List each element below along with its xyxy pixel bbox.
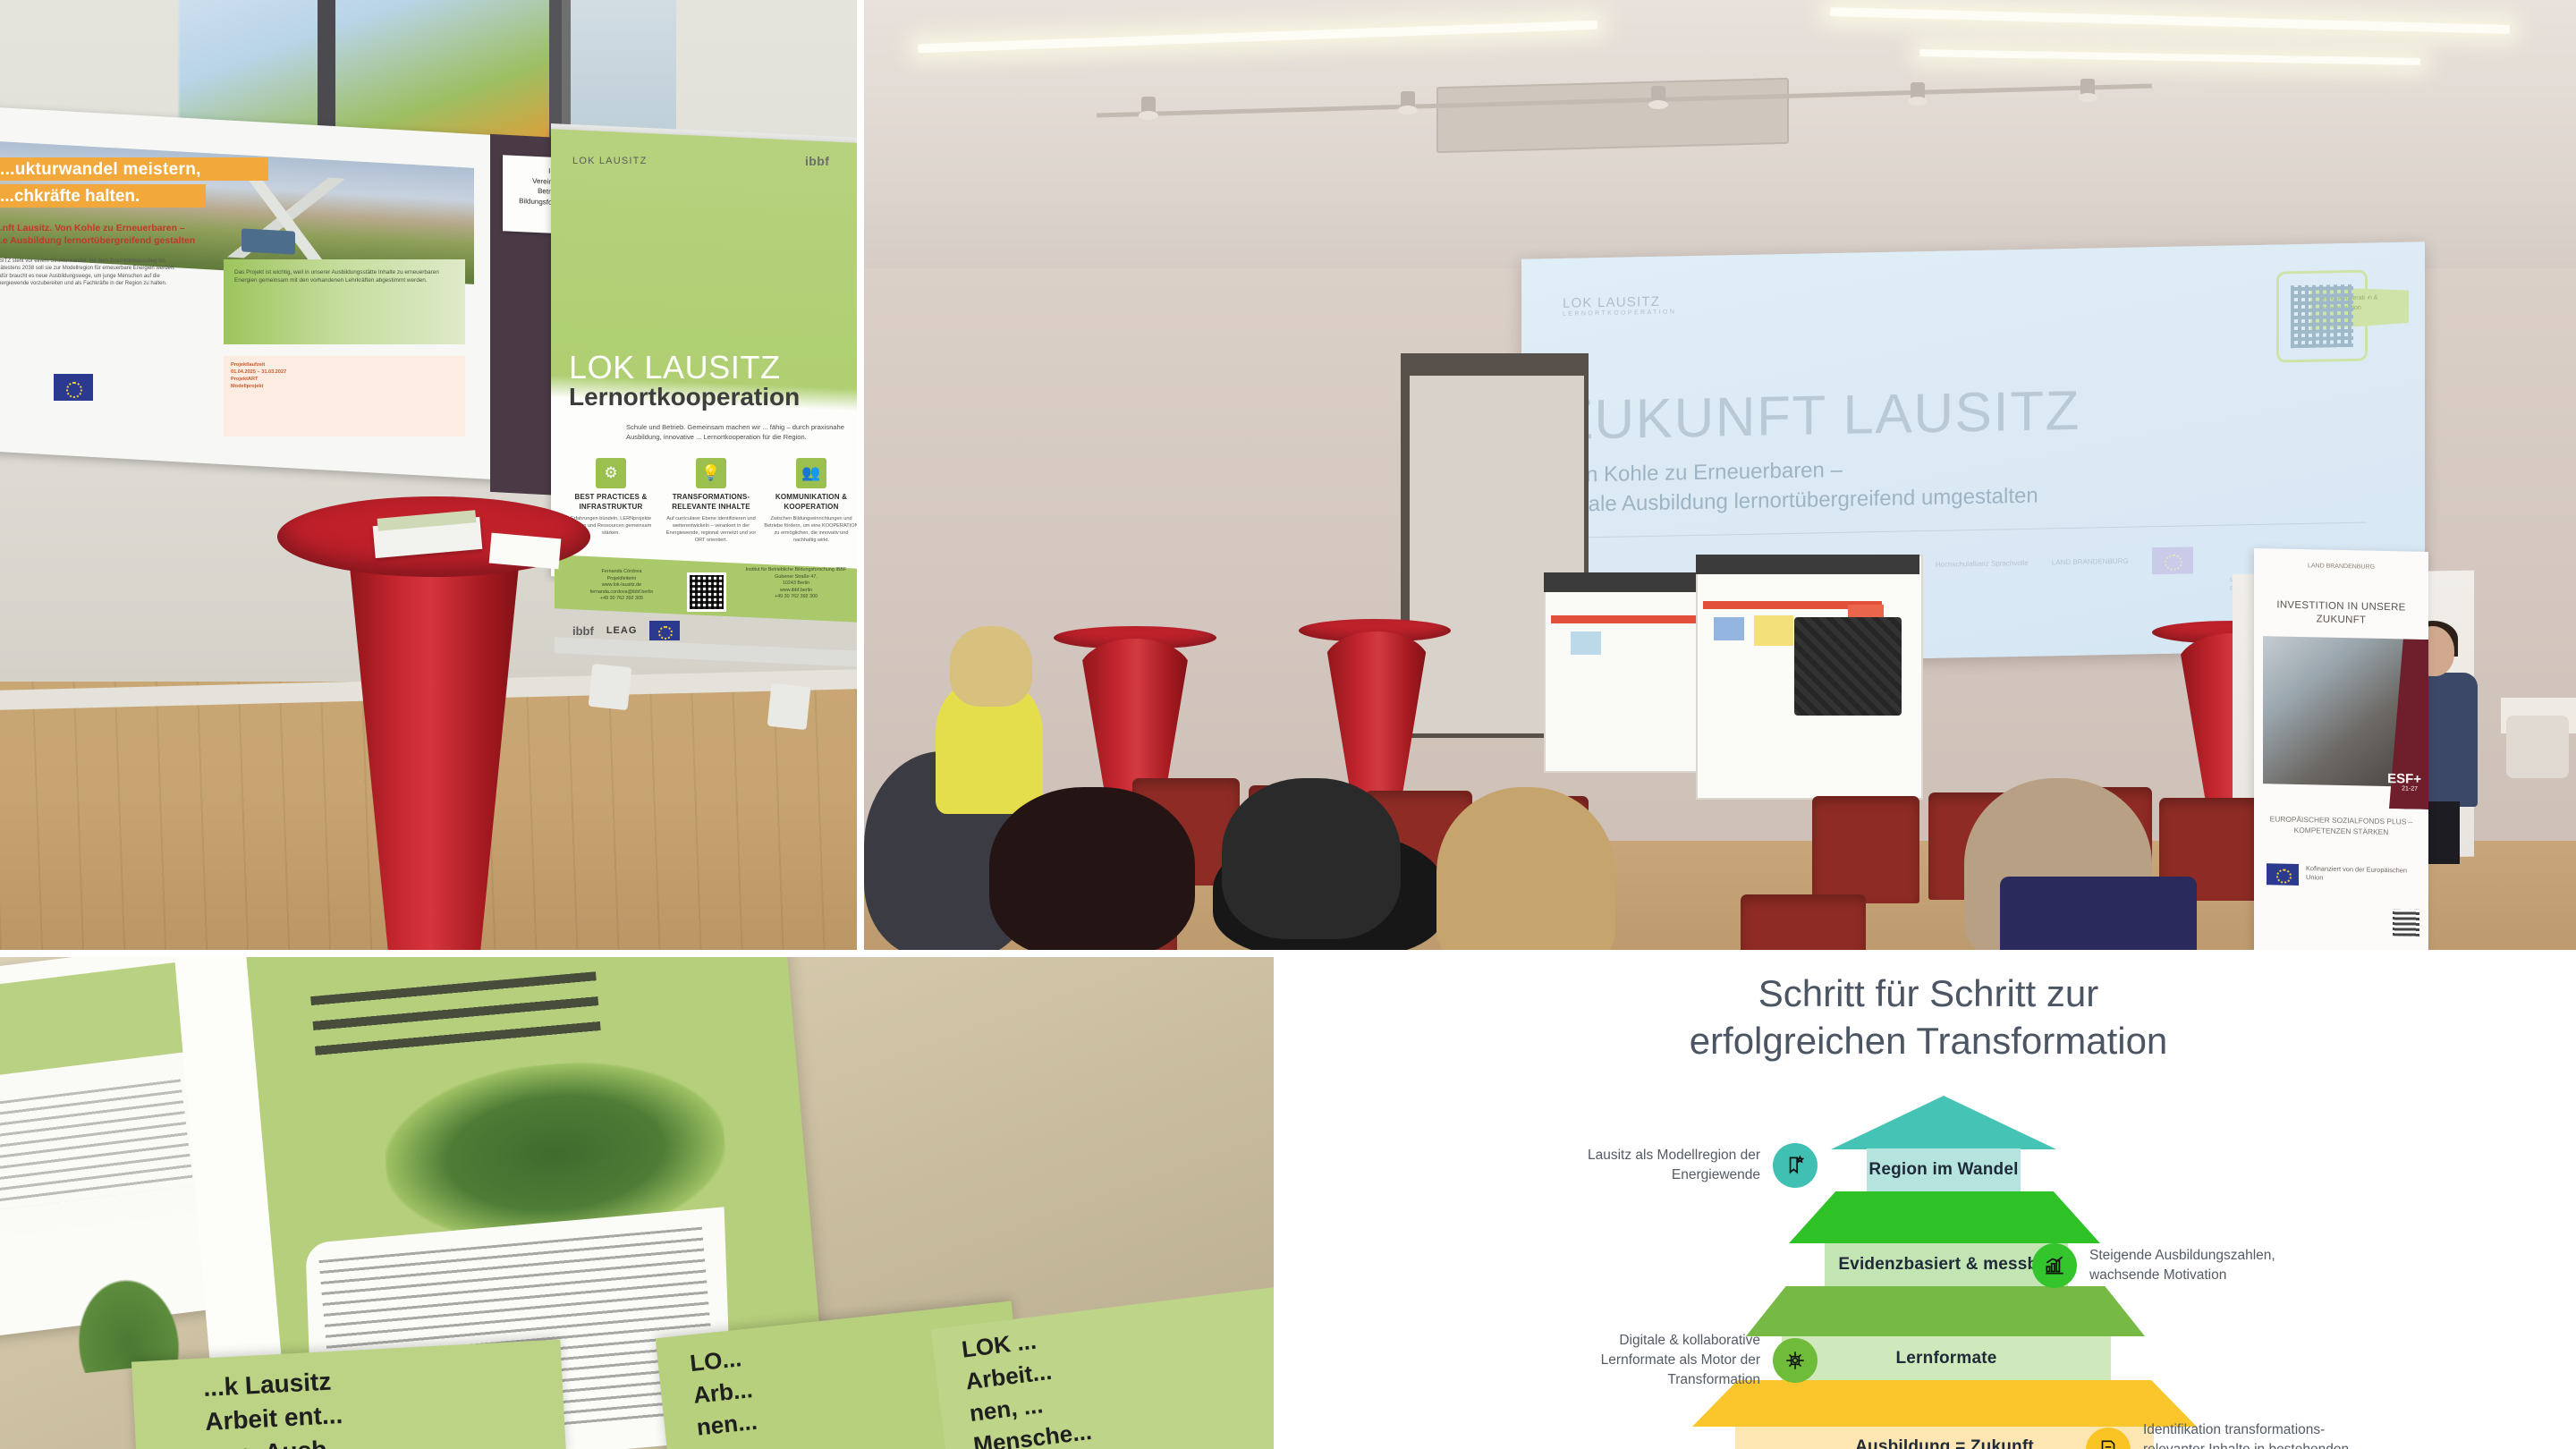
note-1-line-2: Energiewende bbox=[1588, 1165, 1760, 1185]
table-skirt bbox=[347, 539, 521, 950]
pyramid-note-3-text: Digitale & kollaborative Lernformate als… bbox=[1601, 1331, 1760, 1390]
eu-flag-icon bbox=[649, 621, 680, 640]
column-body: Auf curricularer Ebene identifizieren un… bbox=[664, 515, 758, 544]
esf-eu-label: Kofinanziert von der Europäischen Union bbox=[2306, 864, 2413, 885]
eu-flag-icon bbox=[2152, 547, 2193, 574]
note-3-line-2: Lernformate als Motor der bbox=[1601, 1351, 1760, 1370]
slide-title: ZUKUNFT LAUSITZ bbox=[1559, 379, 2080, 453]
rollup-logo-row: ibbf LEAG bbox=[572, 621, 850, 640]
poster-info-text: Projektlaufzeit 01.04.2025 – 31.03.2027 … bbox=[231, 361, 338, 390]
column-heading: KOMMUNIKATION & KOOPERATION bbox=[764, 493, 857, 512]
rollup-logo: LOK LAUSITZ bbox=[572, 156, 648, 166]
rollup-subtitle: Lernortkooperation bbox=[569, 383, 857, 411]
spotlight-icon bbox=[2080, 79, 2095, 100]
note-3-line-1: Digitale & kollaborative bbox=[1601, 1331, 1760, 1351]
spotlight-icon bbox=[1651, 86, 1665, 107]
pyramid-level-4-label: Ausbildung = Zukunft bbox=[1855, 1437, 2034, 1449]
slide-logo-sub: LERNORTKOOPERATION bbox=[1563, 309, 1676, 317]
transformation-pyramid-diagram: Schritt für Schritt zur erfolgreichen Tr… bbox=[1281, 957, 2576, 1449]
pyramid-note-2: Steigende Ausbildungszahlen, wachsende M… bbox=[2032, 1243, 2444, 1288]
sticky-note bbox=[1754, 615, 1793, 646]
ceiling-vent bbox=[1436, 78, 1789, 153]
qr-code-icon bbox=[687, 572, 726, 612]
exhibition-stand-photo: ...ukturwandel meistern, ...chkräfte hal… bbox=[0, 0, 857, 950]
spotlight-icon bbox=[1141, 97, 1156, 118]
rollup-foot bbox=[589, 664, 632, 710]
network-icon: ⚙ bbox=[596, 458, 626, 488]
poster-quote-text: Das Projekt ist wichtig, weil in unserer… bbox=[234, 268, 458, 284]
audience-member bbox=[2000, 877, 2197, 950]
diagram-title-line-1: Schritt für Schritt zur bbox=[1281, 970, 2576, 1017]
paper-sheet bbox=[489, 533, 562, 570]
photo-collage: ...ukturwandel meistern, ...chkräfte hal… bbox=[0, 0, 2576, 1449]
auditorium-seat bbox=[1812, 796, 1919, 903]
note-3-line-3: Transformation bbox=[1601, 1370, 1760, 1390]
bar-chart-growth-icon bbox=[2032, 1243, 2077, 1288]
pyramid-level-3: Lernformate bbox=[1782, 1336, 2111, 1380]
qr-code-icon bbox=[2276, 270, 2368, 363]
slide-logo-text: LOK LAUSITZ bbox=[1563, 294, 1660, 311]
slide-subtitle: Von Kohle zu Erneuerbaren – Duale Ausbil… bbox=[1561, 452, 2038, 520]
note-4-line-2: relevanter Inhalte in bestehenden bbox=[2143, 1440, 2349, 1449]
note-1-line-1: Lausitz als Modellregion der bbox=[1588, 1146, 1760, 1165]
note-2-line-1: Steigende Ausbildungszahlen, bbox=[2089, 1246, 2275, 1266]
pyramid-level-1: Region im Wandel bbox=[1867, 1148, 2021, 1191]
rollup-description: Schule und Betrieb. Gemeinsam machen wir… bbox=[626, 422, 850, 442]
esf-badge-period: 21-27 bbox=[2402, 785, 2418, 792]
flipchart-header-bar bbox=[1696, 555, 1919, 574]
cocktail-table bbox=[277, 496, 590, 950]
slide-divider bbox=[1561, 522, 2366, 538]
audience-member bbox=[1222, 778, 1401, 939]
digital-network-icon bbox=[1773, 1338, 1818, 1383]
flipchart-title-stripe bbox=[1551, 615, 1703, 623]
side-chair bbox=[2506, 716, 2569, 778]
column-body: Zwischen Bildungseinrichtungen und Betri… bbox=[764, 515, 857, 544]
document-edit-icon bbox=[2086, 1428, 2131, 1449]
esf-badge: ESF+ bbox=[2387, 771, 2421, 787]
audience-member bbox=[950, 626, 1032, 707]
pyramid-note-2-text: Steigende Ausbildungszahlen, wachsende M… bbox=[2089, 1246, 2275, 1285]
poster-headline-2: ...chkräfte halten. bbox=[0, 187, 215, 207]
diagram-title-line-2: erfolgreichen Transformation bbox=[1281, 1017, 2576, 1064]
eu-flag-icon bbox=[2267, 863, 2299, 885]
eu-flag-icon bbox=[54, 374, 93, 401]
rollup-foot bbox=[767, 683, 811, 730]
collage-gutter-horizontal bbox=[0, 950, 2576, 957]
poster-headline-1: ...ukturwandel meistern, bbox=[0, 160, 268, 180]
collage-gutter-vertical bbox=[1274, 950, 1283, 1449]
pyramid-note-4-text: Identifikation transformations- relevant… bbox=[2143, 1420, 2349, 1449]
audience-member bbox=[989, 787, 1195, 950]
equipment-case bbox=[1794, 617, 1902, 716]
conference-room-photo: LOK LAUSITZ LERNORTKOOPERATION Lernortko… bbox=[864, 0, 2576, 950]
esf-headline: INVESTITION IN UNSERE ZUKUNFT bbox=[2254, 598, 2428, 629]
sticky-note bbox=[1571, 631, 1601, 655]
pyramid-note-1: Lausitz als Modellregion der Energiewend… bbox=[1451, 1143, 1818, 1188]
qr-code-icon bbox=[2393, 909, 2419, 936]
rollup-address: Institut für Betriebliche Bildungsforsch… bbox=[742, 567, 850, 601]
sticky-note bbox=[1714, 617, 1744, 640]
bookmark-star-icon bbox=[1773, 1143, 1818, 1188]
pyramid-level-3-label: Lernformate bbox=[1895, 1349, 1996, 1368]
pyramid-apex-wedge bbox=[1831, 1096, 2056, 1149]
pyramid-wedge-3 bbox=[1746, 1286, 2145, 1336]
flipchart-header-bar bbox=[1544, 572, 1714, 592]
collaboration-icon: 👥 bbox=[796, 458, 826, 488]
rollup-columns: ⚙ BEST PRACTICES & INFRASTRUKTUR Erfahru… bbox=[563, 458, 857, 544]
land-brandenburg-logo: LAND BRANDENBURG bbox=[2254, 561, 2428, 572]
column-heading: TRANSFORMATIONS-RELEVANTE INHALTE bbox=[664, 493, 758, 512]
spotlight-icon bbox=[1401, 91, 1415, 113]
slide-logo: LOK LAUSITZ LERNORTKOOPERATION bbox=[1563, 293, 1676, 317]
pyramid-level-1-label: Region im Wandel bbox=[1868, 1160, 2018, 1180]
brochure-photo: ...k Lausitz Arbeit ent... nen, Ausb... … bbox=[0, 957, 1281, 1449]
esf-rollup-banner: LAND BRANDENBURG INVESTITION IN UNSERE Z… bbox=[2254, 548, 2428, 950]
pyramid-stage: Region im Wandel Evidenzbasiert & messba… bbox=[1281, 1091, 2576, 1449]
rollup-title: LOK LAUSITZ bbox=[569, 349, 855, 386]
collage-gutter-vertical bbox=[857, 0, 864, 957]
note-4-line-1: Identifikation transformations- bbox=[2143, 1420, 2349, 1440]
audience-member bbox=[1436, 787, 1615, 950]
pyramid-note-3: Digitale & kollaborative Lernformate als… bbox=[1415, 1331, 1818, 1390]
windmill-illustration bbox=[48, 1245, 203, 1376]
flipchart bbox=[1544, 572, 1717, 773]
note-2-line-2: wachsende Motivation bbox=[2089, 1266, 2275, 1285]
pyramid-note-4: Identifikation transformations- relevant… bbox=[2086, 1420, 2551, 1449]
pyramid-wedge-2 bbox=[1789, 1191, 2100, 1243]
hochschul-logo: Hochschulallianz Sprachvolle bbox=[1936, 559, 2029, 570]
ibbf-logo: ibbf bbox=[805, 154, 829, 168]
rollup-column: 💡 TRANSFORMATIONS-RELEVANTE INHALTE Auf … bbox=[664, 458, 758, 544]
spotlight-icon bbox=[1911, 82, 1925, 104]
poster-subline: ...nft Lausitz. Von Kohle zu Erneuerbare… bbox=[0, 222, 290, 247]
rollup-column: 👥 KOMMUNIKATION & KOOPERATION Zwischen B… bbox=[764, 458, 857, 544]
poster-body-text: ...SITZ steht vor einem Strukturwandel: … bbox=[0, 258, 187, 288]
land-brandenburg-logo: LAND BRANDENBURG bbox=[2052, 557, 2129, 568]
esf-subline: EUROPÄISCHER SOZIALFONDS PLUS – KOMPETEN… bbox=[2254, 813, 2428, 838]
leag-logo: LEAG bbox=[606, 625, 638, 636]
auditorium-seat bbox=[1741, 894, 1866, 950]
pyramid-note-1-text: Lausitz als Modellregion der Energiewend… bbox=[1588, 1146, 1760, 1185]
diagram-title: Schritt für Schritt zur erfolgreichen Tr… bbox=[1281, 970, 2576, 1064]
pyramid-level-2-label: Evidenzbasiert & messbar bbox=[1838, 1255, 2054, 1275]
lightbulb-icon: 💡 bbox=[696, 458, 726, 488]
